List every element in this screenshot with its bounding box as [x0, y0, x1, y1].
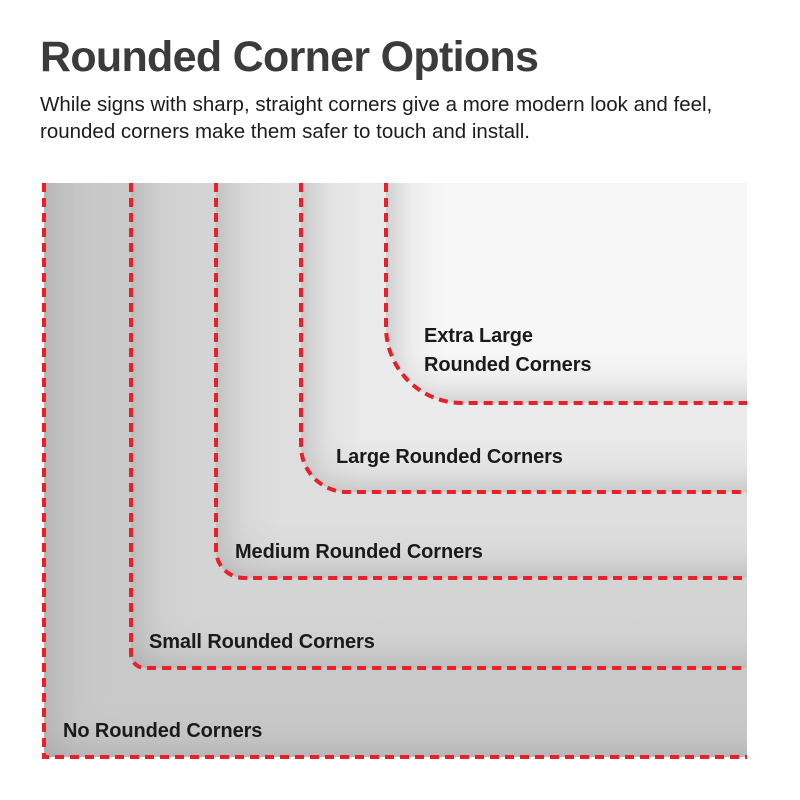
panel-label-large: Large Rounded Corners — [336, 443, 563, 472]
panel-label-no-rounded: No Rounded Corners — [63, 717, 262, 746]
panel-label-medium: Medium Rounded Corners — [235, 538, 483, 567]
nested-panels-svg — [0, 0, 800, 800]
panel-label-extra-large: Extra Large Rounded Corners — [424, 322, 591, 379]
panel-edge-shadow-none — [44, 183, 114, 757]
panel-edge-shadow-small — [131, 183, 199, 668]
corner-options-diagram: Extra Large Rounded Corners Large Rounde… — [0, 0, 800, 800]
panel-label-small: Small Rounded Corners — [149, 628, 375, 657]
infographic-page: Rounded Corner Options While signs with … — [0, 0, 800, 800]
panel-edge-shadow-medium — [216, 183, 282, 578]
